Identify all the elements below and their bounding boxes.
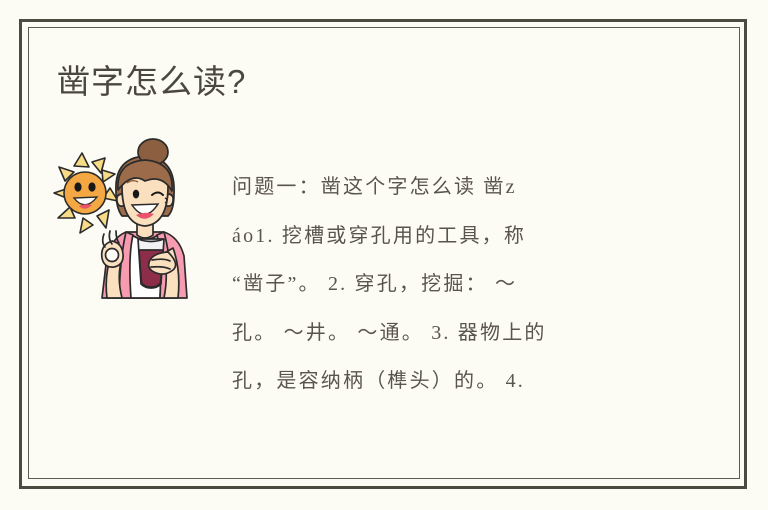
page-title: 凿字怎么读?	[57, 60, 246, 104]
definition-line: áo1. 挖槽或穿孔用的工具，称	[232, 212, 652, 261]
definition-text-block: 问题一：凿这个字怎么读 凿z áo1. 挖槽或穿孔用的工具，称 “凿子”。 2.…	[232, 163, 652, 406]
definition-line: “凿子”。 2. 穿孔，挖掘： ～	[232, 260, 652, 309]
woman-with-sun-illustration	[52, 136, 220, 302]
definition-line: 问题一：凿这个字怎么读 凿z	[232, 163, 652, 212]
document-page: 凿字怎么读?	[0, 0, 768, 510]
definition-line: 孔。 ～井。 ～通。 3. 器物上的	[232, 309, 652, 358]
definition-line: 孔，是容纳柄（榫头）的。 4.	[232, 357, 652, 406]
sun-icon	[54, 153, 118, 233]
